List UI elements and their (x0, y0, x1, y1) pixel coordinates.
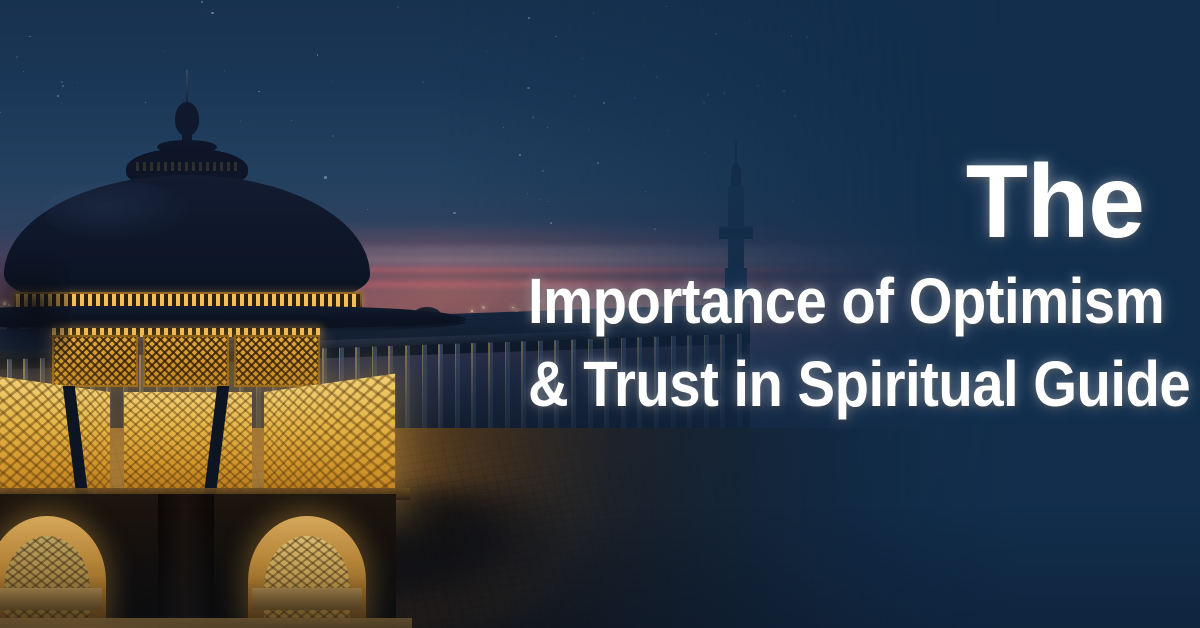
left-foliage-silhouette (0, 250, 70, 370)
upper-lattice-row (52, 335, 320, 387)
lattice-panel (143, 335, 229, 387)
headline-line-1: The (458, 150, 1144, 254)
lower-glowing-facets (0, 392, 382, 500)
lattice-panel (234, 335, 320, 387)
headline-line-2: Importance of Optimism (528, 260, 1144, 343)
arch-shading (248, 516, 366, 624)
star-dot (16, 56, 17, 57)
headline-line-3: & Trust in Spiritual Guide (528, 343, 1144, 426)
dome-sheen (44, 182, 194, 242)
star-dot (317, 54, 318, 55)
star-dot (211, 12, 213, 14)
illuminated-arch-right (248, 516, 366, 624)
dome-spire-icon (186, 70, 188, 106)
illuminated-arch-left (0, 516, 106, 624)
dome-crown-grill (136, 162, 238, 171)
arch-shading (0, 516, 106, 624)
star-dot (201, 1, 203, 3)
star-dot (163, 51, 164, 52)
star-dot (202, 9, 203, 10)
pavilion-base-corner (158, 494, 214, 628)
star-dot (397, 6, 399, 8)
star-dot (422, 81, 424, 83)
headline-block: The Importance of Optimism & Trust in Sp… (444, 150, 1144, 426)
facet-panel-center (124, 392, 252, 500)
star-dot (29, 36, 31, 38)
banner-hero: The Importance of Optimism & Trust in Sp… (0, 0, 1200, 628)
